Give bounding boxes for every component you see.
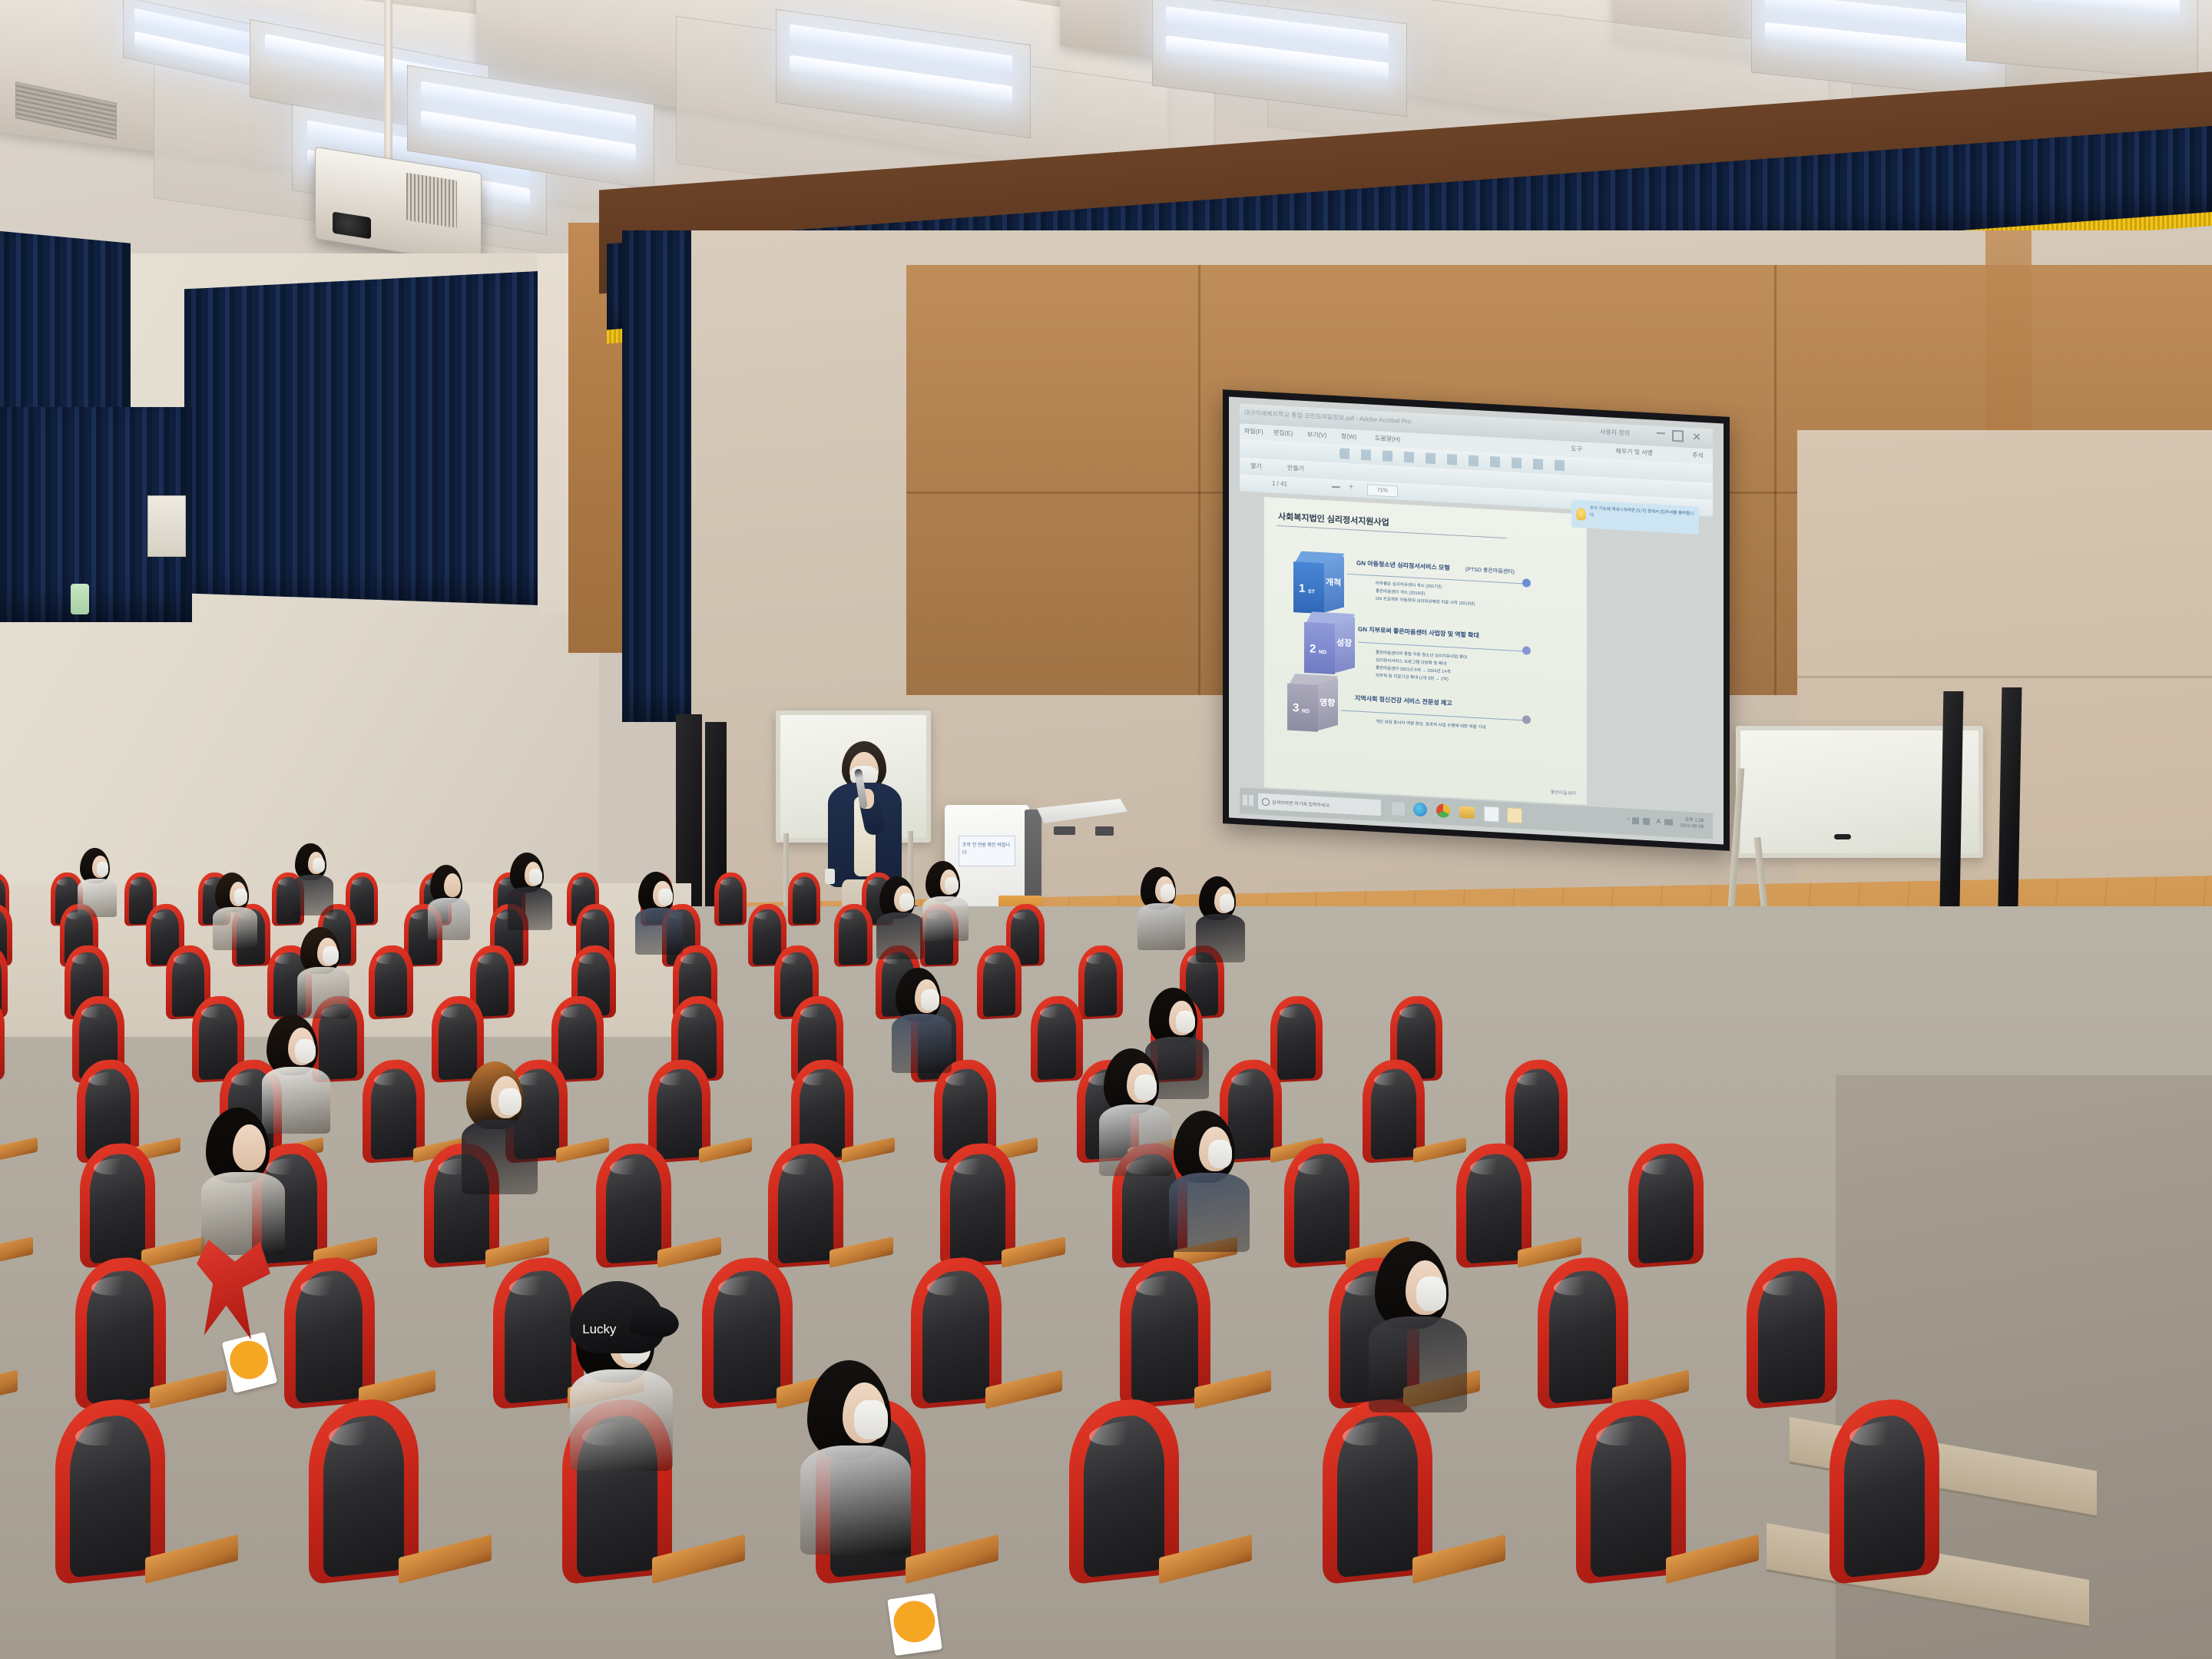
auditorium-seat[interactable] bbox=[1576, 1394, 1686, 1584]
menu-edit[interactable]: 편집(E) bbox=[1273, 429, 1293, 438]
cube-1-ordinal: ST bbox=[1308, 589, 1315, 594]
audience-member bbox=[891, 968, 978, 1097]
wood-wall-seam-2 bbox=[1774, 265, 1777, 695]
auditorium-seat[interactable] bbox=[1628, 1141, 1704, 1269]
cube-3-index: 3 bbox=[1293, 701, 1299, 714]
emergency-light bbox=[71, 584, 89, 614]
audience-member bbox=[507, 853, 571, 948]
audience-torso bbox=[635, 908, 683, 955]
step-1-headline: GN 아동청소년 심리정서서비스 모형 bbox=[1356, 559, 1450, 573]
customize-label: 사용자 정의 bbox=[1600, 428, 1630, 438]
auditorium-seat[interactable] bbox=[1031, 995, 1083, 1083]
face-mask bbox=[97, 862, 109, 876]
audience-face bbox=[444, 873, 461, 897]
step-2-headline: GN 지부로써 좋은마음센터 사업장 및 역할 확대 bbox=[1358, 625, 1479, 641]
menu-view[interactable]: 보기(V) bbox=[1307, 430, 1326, 439]
audience-torso bbox=[1196, 914, 1245, 962]
acrobat-icon[interactable] bbox=[1484, 806, 1499, 823]
hwp-icon[interactable] bbox=[1507, 807, 1522, 823]
connector-3 bbox=[1341, 710, 1525, 720]
face-mask bbox=[1208, 1140, 1233, 1169]
av-console-desk bbox=[1037, 799, 1128, 823]
cube-step-3: 3 RD 영향 bbox=[1287, 674, 1339, 733]
face-mask bbox=[323, 946, 339, 965]
face-mask bbox=[921, 989, 939, 1011]
page-indicator[interactable]: 1 / 41 bbox=[1272, 480, 1287, 488]
audience-member bbox=[1195, 876, 1266, 982]
ime-icon[interactable]: A bbox=[1657, 818, 1661, 825]
maximize-icon[interactable] bbox=[1672, 430, 1684, 442]
edge-icon[interactable] bbox=[1413, 803, 1427, 817]
auditorium-seat[interactable] bbox=[1747, 1254, 1837, 1409]
face-mask bbox=[295, 1039, 316, 1064]
slide-title-rule bbox=[1277, 525, 1507, 538]
task-view-icon[interactable] bbox=[1392, 802, 1405, 816]
volume-icon[interactable] bbox=[1643, 818, 1650, 825]
audience-torso bbox=[1169, 1173, 1250, 1252]
pdf-window-title: 대구미래복지학교 통합-프린트파일정보.pdf - Adobe Acrobat … bbox=[1244, 409, 1411, 426]
audience-torso bbox=[570, 1369, 673, 1471]
lightbulb-icon bbox=[1576, 508, 1586, 521]
zoom-in-button[interactable]: + bbox=[1349, 483, 1353, 492]
audience-member bbox=[212, 873, 276, 968]
audience-member bbox=[1167, 1111, 1283, 1283]
face-mask bbox=[1220, 894, 1234, 912]
av-console-note-text: 조작 전 전원 확인 바랍니다 bbox=[962, 842, 1012, 857]
av-console-panel[interactable] bbox=[1095, 826, 1114, 836]
audience-torso bbox=[297, 967, 349, 1018]
cube-step-2: 2 ND 성장 bbox=[1304, 611, 1356, 676]
step-1-bullet-3: GN 프로젝트 아동학대 심리외상예방 치료 시작 (2013년) bbox=[1376, 595, 1475, 607]
auditorium-seat[interactable] bbox=[1069, 1394, 1179, 1584]
face-mask bbox=[945, 877, 959, 893]
projector-vent bbox=[406, 173, 457, 228]
beige-wall-seam bbox=[1797, 676, 2212, 678]
auditorium-seat[interactable] bbox=[0, 995, 5, 1083]
clock-date[interactable]: 2021-09-28 bbox=[1680, 823, 1704, 829]
auditorium-seat[interactable] bbox=[834, 903, 873, 967]
explorer-icon[interactable] bbox=[1459, 806, 1475, 819]
audience-torso bbox=[293, 875, 334, 916]
auditorium-seat[interactable] bbox=[714, 872, 747, 926]
tip-bubble-text: 추가 기능에 액세스하려면 [도구] 창에서 [입주셔를 클릭합니다. bbox=[1590, 505, 1694, 525]
menu-file[interactable]: 파일(F) bbox=[1244, 427, 1263, 436]
taskbar-search[interactable]: 검색하려면 여기에 입력하세요. bbox=[1258, 793, 1381, 816]
menu-window[interactable]: 창(W) bbox=[1341, 432, 1356, 441]
cube-step-1: 1 ST 개척 bbox=[1293, 551, 1346, 615]
auditorium-seat[interactable] bbox=[1830, 1394, 1939, 1584]
curtain-left-panel bbox=[184, 269, 584, 607]
search-icon bbox=[1262, 798, 1270, 806]
audience-torso bbox=[78, 879, 117, 918]
face-mask bbox=[1176, 1011, 1195, 1033]
tab-fill-sign[interactable]: 채우기 및 서명 bbox=[1615, 447, 1653, 458]
open-button[interactable]: 열기 bbox=[1250, 462, 1262, 471]
cap-logo-text: Lucky bbox=[582, 1322, 616, 1337]
cube-1-label: 개척 bbox=[1326, 575, 1341, 588]
step-1-headline-paren: (PTSD 좋은마음센터) bbox=[1465, 565, 1515, 575]
minimize-icon[interactable] bbox=[1657, 432, 1665, 435]
face-mask bbox=[1161, 884, 1175, 901]
face-mask bbox=[529, 869, 542, 885]
step-3-bullet-1: 개인 상담 종사자 역량 향상, 효과적 사업 수행에 대한 역할 기대 bbox=[1376, 718, 1485, 730]
tab-tools[interactable]: 도구 bbox=[1571, 445, 1582, 454]
audience-member: Lucky bbox=[568, 1290, 717, 1511]
create-button[interactable]: 만들기 bbox=[1287, 464, 1304, 473]
cube-3-ordinal: RD bbox=[1302, 709, 1310, 715]
audience-face bbox=[233, 1124, 266, 1171]
pdf-page: 사회복지법인 심리정서지원사업 1 ST 개척 GN 아동청소년 심리정서서비스… bbox=[1264, 497, 1587, 805]
clock-time[interactable]: 오후 1:28 bbox=[1685, 816, 1704, 823]
cube-1-index: 1 bbox=[1299, 581, 1305, 594]
auditorium-seat[interactable] bbox=[55, 1394, 165, 1584]
connector-dot-2 bbox=[1522, 646, 1531, 655]
audience-member bbox=[427, 865, 488, 956]
slide-footer-logo: 좋은마음센터 bbox=[1551, 788, 1576, 796]
audience-torso bbox=[1369, 1316, 1467, 1412]
seat-back-cushion bbox=[0, 995, 5, 1083]
keyboard-icon[interactable] bbox=[1664, 819, 1673, 826]
cube-2-label: 성장 bbox=[1336, 636, 1352, 649]
projector-mount-pole bbox=[384, 0, 392, 161]
face-mask bbox=[1416, 1277, 1446, 1312]
audience-member bbox=[799, 1360, 958, 1598]
tip-bubble[interactable]: 추가 기능에 액세스하려면 [도구] 창에서 [입주셔를 클릭합니다. bbox=[1571, 500, 1699, 535]
face-mask bbox=[1134, 1075, 1157, 1101]
search-placeholder: 검색하려면 여기에 입력하세요. bbox=[1272, 799, 1331, 809]
audience-torso bbox=[892, 1014, 952, 1073]
audience-torso bbox=[201, 1172, 285, 1254]
audience-member bbox=[922, 861, 988, 959]
close-icon[interactable]: ✕ bbox=[1691, 431, 1702, 442]
audience-torso bbox=[1099, 1104, 1172, 1176]
face-mask bbox=[899, 893, 914, 910]
step-3-headline: 지역사회 정신건강 서비스 전문성 제고 bbox=[1355, 694, 1452, 707]
auditorium-photo: 대구미래복지학교 통합-프린트파일정보.pdf - Adobe Acrobat … bbox=[0, 0, 2212, 1659]
face-mask bbox=[313, 858, 325, 873]
start-button[interactable] bbox=[1243, 795, 1253, 806]
audience-torso bbox=[876, 912, 924, 959]
audience-member bbox=[1367, 1241, 1508, 1452]
audience-member bbox=[77, 848, 134, 932]
projector-lens bbox=[333, 211, 371, 239]
connector-dot-1 bbox=[1522, 578, 1531, 588]
presenter-remote[interactable] bbox=[825, 869, 835, 884]
wood-wall-seam-1 bbox=[1198, 265, 1200, 695]
face-mask bbox=[234, 889, 247, 905]
audience-member bbox=[634, 872, 703, 973]
connector-dot-3 bbox=[1522, 715, 1531, 724]
network-icon[interactable] bbox=[1632, 817, 1639, 824]
chrome-icon[interactable] bbox=[1436, 803, 1450, 818]
audience-torso bbox=[800, 1445, 911, 1555]
cube-3-label: 영향 bbox=[1320, 696, 1335, 709]
face-mask bbox=[658, 889, 673, 906]
audience-member bbox=[292, 843, 351, 932]
cube-2-index: 2 bbox=[1310, 642, 1316, 655]
audience-member bbox=[461, 1061, 570, 1224]
whiteboard-right-marker bbox=[1834, 834, 1851, 839]
seat-flyer-3[interactable] bbox=[887, 1593, 942, 1656]
auditorium-seat[interactable] bbox=[309, 1394, 419, 1584]
wall-speaker-left bbox=[147, 495, 186, 557]
auditorium-seat[interactable] bbox=[369, 944, 413, 1019]
audience-torso bbox=[428, 898, 471, 940]
audience-torso bbox=[213, 907, 257, 951]
projection-screen: 대구미래복지학교 통합-프린트파일정보.pdf - Adobe Acrobat … bbox=[1229, 397, 1724, 845]
face-mask bbox=[854, 1400, 888, 1440]
audience-torso bbox=[508, 887, 552, 931]
audience-torso bbox=[1137, 903, 1185, 950]
auditorium-seat[interactable] bbox=[788, 872, 820, 926]
zoom-level-field[interactable]: 71% bbox=[1367, 484, 1398, 497]
audience-torso bbox=[922, 896, 969, 942]
face-mask bbox=[498, 1088, 522, 1115]
av-console-keypad[interactable] bbox=[1054, 826, 1075, 835]
cube-2-ordinal: ND bbox=[1319, 650, 1326, 656]
menu-help[interactable]: 도움말(H) bbox=[1375, 434, 1400, 444]
tray-chevron-icon[interactable]: ^ bbox=[1628, 818, 1630, 823]
zoom-out-button[interactable] bbox=[1332, 486, 1340, 488]
auditorium-seat[interactable] bbox=[1078, 944, 1123, 1019]
tab-comment[interactable]: 주석 bbox=[1692, 451, 1704, 460]
audience-torso bbox=[462, 1120, 538, 1194]
